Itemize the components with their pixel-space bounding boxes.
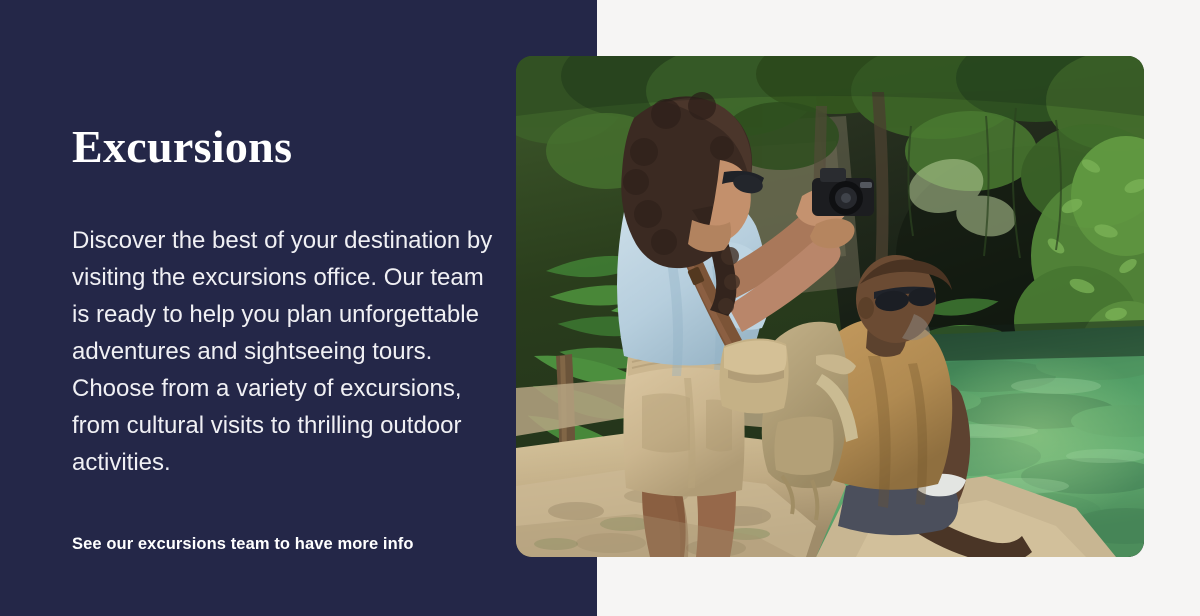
panel-description: Discover the best of your destination by… xyxy=(72,222,502,481)
excursions-promo-page: Excursions Discover the best of your des… xyxy=(0,0,1200,616)
excursions-team-link[interactable]: See our excursions team to have more inf… xyxy=(72,533,414,555)
page-title: Excursions xyxy=(72,121,292,173)
excursion-photo-image xyxy=(516,56,1144,557)
left-content-panel: Excursions Discover the best of your des… xyxy=(0,0,597,616)
panel-content: Excursions Discover the best of your des… xyxy=(72,0,542,616)
excursion-photo xyxy=(516,56,1144,557)
